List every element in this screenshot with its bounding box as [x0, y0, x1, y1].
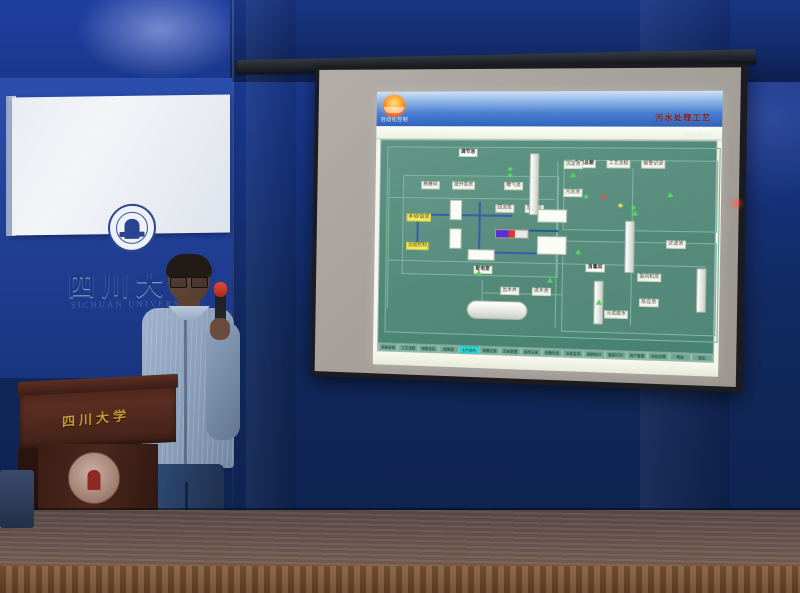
status-button-active[interactable]: 实时曲线 — [459, 346, 479, 354]
indicator-dosing-run — [632, 206, 635, 209]
valve-icon-6[interactable] — [476, 270, 482, 275]
status-button-9[interactable]: 水质监测 — [563, 349, 583, 357]
status-button-8[interactable]: 设备状态 — [542, 349, 562, 357]
status-button-0[interactable]: 系统总貌 — [379, 343, 398, 351]
university-banner: 四川大学 SICHUAN UNIVERSITY — [12, 94, 230, 235]
status-button-3[interactable]: 趋势图 — [439, 345, 458, 353]
unit-box-2[interactable] — [449, 228, 462, 249]
hmi-label-13[interactable]: 过滤池 — [666, 240, 686, 249]
speaker-hand — [210, 318, 230, 340]
hmi-label-15[interactable]: 污泥脱水 — [604, 310, 628, 319]
zone-right-bottom — [561, 241, 717, 337]
status-button-6[interactable]: 历史数据 — [500, 347, 520, 355]
app-title: 污水处理工艺 — [655, 112, 711, 124]
unit-box-4[interactable] — [537, 236, 567, 255]
app-subbar — [376, 126, 722, 140]
curtain-fold-left — [246, 0, 296, 520]
hmi-clock: 2016-05-18 — [684, 132, 710, 137]
indicator-valve-alarm — [602, 195, 605, 198]
photo-scene: 四川大学 SICHUAN UNIVERSITY 自动化控制 污水处理工艺 — [0, 0, 800, 593]
valve-icon-2[interactable] — [667, 192, 674, 197]
hmi-label-header-4[interactable]: 沉淀池 — [564, 161, 583, 169]
hmi-label-header-2[interactable]: 工艺流程 — [606, 160, 630, 169]
hmi-label-yellow-1[interactable]: 远程控制 — [406, 242, 429, 251]
horizontal-tank-1[interactable] — [467, 300, 528, 320]
university-emblem-icon — [68, 452, 120, 504]
sunrise-logo-icon — [383, 95, 406, 117]
app-titlebar: 自动化控制 污水处理工艺 — [377, 91, 723, 127]
unit-box-3[interactable] — [537, 209, 567, 223]
status-button-10[interactable]: 能耗统计 — [584, 350, 604, 358]
vertical-tank-1[interactable] — [529, 153, 540, 215]
hmi-label-6[interactable]: 回流泵 — [495, 204, 514, 212]
hmi-label-5[interactable]: 污泥池 — [563, 189, 582, 198]
scada-application-window[interactable]: 自动化控制 污水处理工艺 — [373, 91, 723, 377]
status-button-5[interactable]: 报警记录 — [480, 347, 500, 355]
hmi-label-10[interactable]: 清水池 — [532, 287, 551, 296]
hmi-label-1[interactable]: 格栅间 — [421, 181, 439, 189]
indicator-blower-run — [584, 195, 587, 198]
vertical-tank-4[interactable] — [696, 268, 707, 313]
microphone-head — [214, 282, 227, 297]
hmi-process-canvas[interactable]: 调节池 系统总貌 工艺流程 报警记录 沉淀池 格栅间 提升泵房 曝气池 污泥池 … — [377, 139, 718, 363]
stage-side-object — [0, 470, 34, 528]
hmi-label-11[interactable]: 鼓风机房 — [637, 273, 662, 282]
hmi-label-3[interactable]: 曝气池 — [504, 182, 523, 190]
status-button-15[interactable]: 退出 — [691, 354, 712, 362]
level-meter[interactable] — [495, 229, 529, 239]
unit-box-1[interactable] — [450, 200, 463, 221]
speaker-hair — [166, 254, 212, 278]
status-button-2[interactable]: 参数设定 — [419, 345, 438, 353]
projection-screen[interactable]: 自动化控制 污水处理工艺 — [311, 63, 748, 393]
hmi-label-yellow-0[interactable]: 手动/自动 — [406, 213, 431, 221]
lectern-chinese-name: 四川大学 — [36, 402, 156, 434]
valve-icon-3[interactable] — [632, 210, 639, 215]
valve-icon-5[interactable] — [547, 277, 553, 282]
indicator-pump-2-run — [508, 174, 511, 177]
status-button-7[interactable]: 操作记录 — [521, 348, 541, 356]
brand-subtitle: 自动化控制 — [381, 116, 409, 123]
hmi-label-2[interactable]: 提升泵房 — [452, 181, 475, 189]
hmi-label-9[interactable]: 出水井 — [500, 287, 519, 296]
unit-box-5[interactable] — [468, 249, 495, 261]
indicator-pump-1-run — [509, 168, 512, 171]
stage-floor-edge — [0, 566, 800, 593]
vertical-tank-2[interactable] — [624, 221, 635, 273]
status-button-1[interactable]: 工艺流程 — [399, 344, 418, 352]
indicator-level-warn — [619, 204, 622, 207]
status-button-11[interactable]: 报表打印 — [605, 351, 625, 359]
valve-icon-1[interactable] — [570, 172, 576, 177]
valve-icon-4[interactable] — [575, 249, 582, 254]
hmi-label-12[interactable]: 反应池 — [639, 298, 659, 307]
hmi-label-header-0[interactable]: 调节池 — [459, 149, 478, 157]
glasses-icon — [170, 277, 208, 286]
status-button-14[interactable]: 帮助 — [670, 353, 691, 361]
status-button-13[interactable]: 系统设置 — [648, 352, 669, 360]
status-button-12[interactable]: 用户管理 — [627, 351, 648, 359]
hmi-label-14[interactable]: 消毒间 — [585, 264, 604, 273]
laser-pointer-dot — [734, 201, 739, 205]
valve-icon-7[interactable] — [596, 299, 603, 304]
hmi-label-header-3[interactable]: 报警记录 — [641, 160, 666, 169]
